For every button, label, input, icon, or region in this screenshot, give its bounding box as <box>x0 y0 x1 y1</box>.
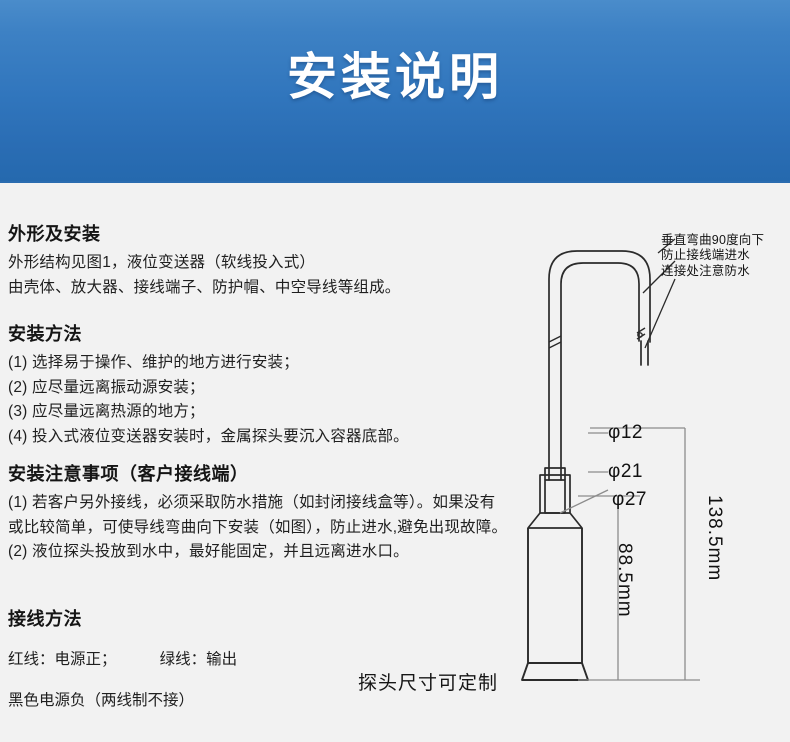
length-label-total: 138.5mm <box>703 495 725 581</box>
section-wiring-method: 接线方法 红线：电源正； 绿线：输出 黑色电源负（两线制不接） <box>8 608 237 728</box>
section-line: (1) 若客户另外接线，必须采取防水措施（如封闭接线盒等）。如果没有或比较简单，… <box>8 491 508 540</box>
section-install-notice: 安装注意事项（客户接线端） (1) 若客户另外接线，必须采取防水措施（如封闭接线… <box>8 463 508 565</box>
section-line: (2) 液位探头投放到水中，最好能固定，并且远离进水口。 <box>8 540 508 564</box>
probe-body <box>528 528 582 663</box>
cable-outline <box>549 251 650 480</box>
section-line: (1) 选择易于操作、维护的地方进行安装； <box>8 351 409 375</box>
custom-size-note: 探头尺寸可定制 <box>358 668 498 695</box>
section-shape-and-install: 外形及安装 外形结构见图1，液位变送器（软线投入式） 由壳体、放大器、接线端子、… <box>8 223 401 300</box>
section-title: 接线方法 <box>8 608 237 631</box>
section-title: 安装方法 <box>8 323 409 346</box>
cable-annotation: 垂直弯曲90度向下 防止接线端进水 连接处注意防水 <box>661 233 764 279</box>
annotation-line: 防止接线端进水 <box>661 248 764 263</box>
annotation-line: 垂直弯曲90度向下 <box>661 233 764 248</box>
page-title: 安装说明 <box>0 50 790 105</box>
diameter-label-21: φ21 <box>608 461 643 483</box>
dimension-88-5mm <box>578 496 700 680</box>
diameter-label-12: φ12 <box>608 422 643 444</box>
diameter-label-27: φ27 <box>612 489 647 511</box>
probe-shoulder <box>528 513 582 528</box>
length-label-body: 88.5mm <box>613 543 635 618</box>
section-title: 安装注意事项（客户接线端） <box>8 463 508 486</box>
section-line: 红线：电源正； 绿线：输出 <box>8 647 237 672</box>
section-line: (4) 投入式液位变送器安装时，金属探头要沉入容器底部。 <box>8 425 409 449</box>
section-line: (2) 应尽量远离振动源安装； <box>8 376 409 400</box>
section-install-method: 安装方法 (1) 选择易于操作、维护的地方进行安装； (2) 应尽量远离振动源安… <box>8 323 409 449</box>
section-line: 黑色电源负（两线制不接） <box>8 688 237 713</box>
section-line: 外形结构见图1，液位变送器（软线投入式） <box>8 251 401 275</box>
probe-bottom-cap <box>522 663 588 680</box>
section-title: 外形及安装 <box>8 223 401 246</box>
section-line: 由壳体、放大器、接线端子、防护帽、中空导线等组成。 <box>8 276 401 300</box>
section-line: (3) 应尽量远离热源的地方； <box>8 400 409 424</box>
annotation-line: 连接处注意防水 <box>661 264 764 279</box>
cable-break-marks <box>549 328 645 348</box>
installation-instruction-page: 安装说明 外形及安装 外形结构见图1，液位变送器（软线投入式） 由壳体、放大器、… <box>0 0 790 742</box>
page-header-banner: 安装说明 <box>0 0 790 183</box>
